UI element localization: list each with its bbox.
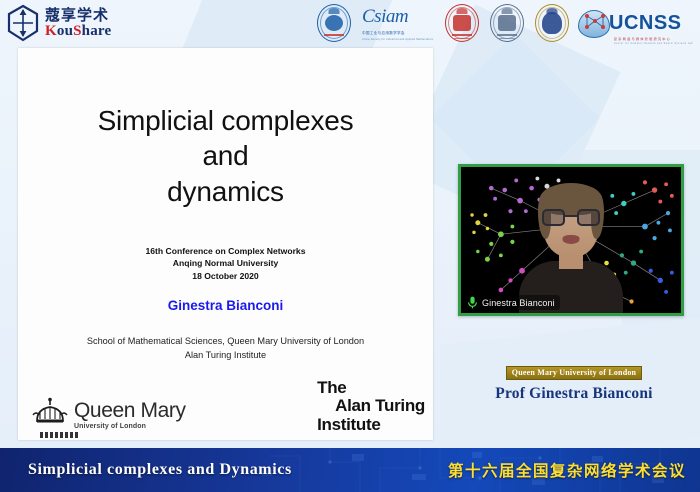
microphone-icon — [467, 296, 478, 309]
queen-mary-barcode — [40, 432, 80, 438]
bottom-banner: Simplicial complexes and Dynamics 第十六届全国… — [0, 448, 700, 492]
queen-mary-name: Queen Mary — [74, 400, 186, 421]
brand-en-ou: ou — [57, 23, 73, 39]
queen-mary-subtitle: University of London — [74, 423, 186, 430]
brand-en-hare: hare — [82, 23, 112, 39]
banner-title-en: Simplicial complexes and Dynamics — [28, 461, 292, 479]
queen-mary-logo: Queen Mary University of London — [32, 397, 186, 432]
slide-affiliation: School of Mathematical Sciences, Queen M… — [18, 335, 433, 363]
ucnss-network-icon — [578, 6, 612, 40]
eyeglasses — [542, 209, 600, 226]
queen-mary-crown-icon — [32, 397, 68, 427]
brand-cn-name: 蔻享学术 — [45, 8, 111, 23]
speaker-figure — [519, 183, 623, 313]
brand-en-k: K — [45, 23, 57, 39]
brand-en-s: S — [73, 23, 82, 39]
brand-en-name: KouShare — [45, 24, 111, 39]
conference-name: 16th Conference on Complex Networks — [18, 245, 433, 257]
csiam-seal-logo — [315, 3, 353, 43]
anqing-normal-university-seal — [443, 3, 481, 43]
video-participant-label: Ginestra Bianconi — [465, 295, 560, 310]
university-seal-gold — [533, 3, 571, 43]
slide-canvas[interactable]: Simplicial complexes and dynamics 16th C… — [18, 48, 433, 440]
presenter-name: Prof Ginestra Bianconi — [456, 385, 692, 403]
university-seal-blue — [488, 3, 526, 43]
slide-speaker-name: Ginestra Bianconi — [18, 298, 433, 313]
ucnss-sub-cn: 复杂网络与群体智能研究中心 — [614, 37, 671, 41]
koushare-hexagon-icon — [6, 4, 40, 42]
ucnss-sub-en: Center for Complex Network and Swarm Sys… — [614, 43, 693, 45]
slide-title-line-3: dynamics — [18, 174, 433, 209]
csiam-wordmark-logo: Csiam 中国工业与应用数学学会 China Society for Indu… — [360, 3, 436, 43]
sponsor-logos: Csiam 中国工业与应用数学学会 China Society for Indu… — [315, 1, 696, 45]
presentation-viewer: 蔻享学术 KouShare Csiam 中国工业与应用数学学会 China So… — [0, 0, 700, 492]
slide-title-line-2: and — [18, 138, 433, 173]
ati-line-1: The — [317, 379, 425, 397]
presenter-caption: Queen Mary University of London Prof Gin… — [456, 362, 692, 403]
video-feed: Ginestra Bianconi — [461, 167, 681, 313]
slide-title-line-1: Simplicial complexes — [18, 103, 433, 138]
ati-line-3: Institute — [317, 416, 425, 434]
conference-info: 16th Conference on Complex Networks Anqi… — [18, 245, 433, 282]
csiam-sub-cn: 中国工业与应用数学学会 — [362, 31, 436, 36]
ati-line-2: Alan Turing — [317, 397, 425, 415]
slide-title: Simplicial complexes and dynamics — [18, 103, 433, 209]
conference-venue: Anqing Normal University — [18, 257, 433, 269]
ucnss-wordmark: UCNSS — [609, 13, 682, 33]
csiam-word: Csiam — [362, 6, 408, 28]
speaker-video-panel[interactable]: Ginestra Bianconi — [458, 164, 684, 316]
affiliation-line-1: School of Mathematical Sciences, Queen M… — [18, 335, 433, 349]
affiliation-line-2: Alan Turing Institute — [18, 349, 433, 363]
slide-footer-logos: Queen Mary University of London The Alan… — [18, 370, 433, 436]
alan-turing-institute-logo: The Alan Turing Institute — [317, 379, 425, 434]
banner-title-cn: 第十六届全国复杂网络学术会议 — [448, 459, 686, 481]
page-header: 蔻享学术 KouShare Csiam 中国工业与应用数学学会 China So… — [0, 0, 700, 46]
presenter-affiliation-badge: Queen Mary University of London — [506, 366, 642, 380]
csiam-sub-en: China Society for Industrial and Applied… — [362, 38, 436, 41]
video-participant-name: Ginestra Bianconi — [482, 298, 555, 308]
ucnss-logo: UCNSS 复杂网络与群体智能研究中心 Center for Complex N… — [578, 2, 696, 44]
koushare-brand[interactable]: 蔻享学术 KouShare — [6, 4, 111, 42]
conference-date: 18 October 2020 — [18, 270, 433, 282]
